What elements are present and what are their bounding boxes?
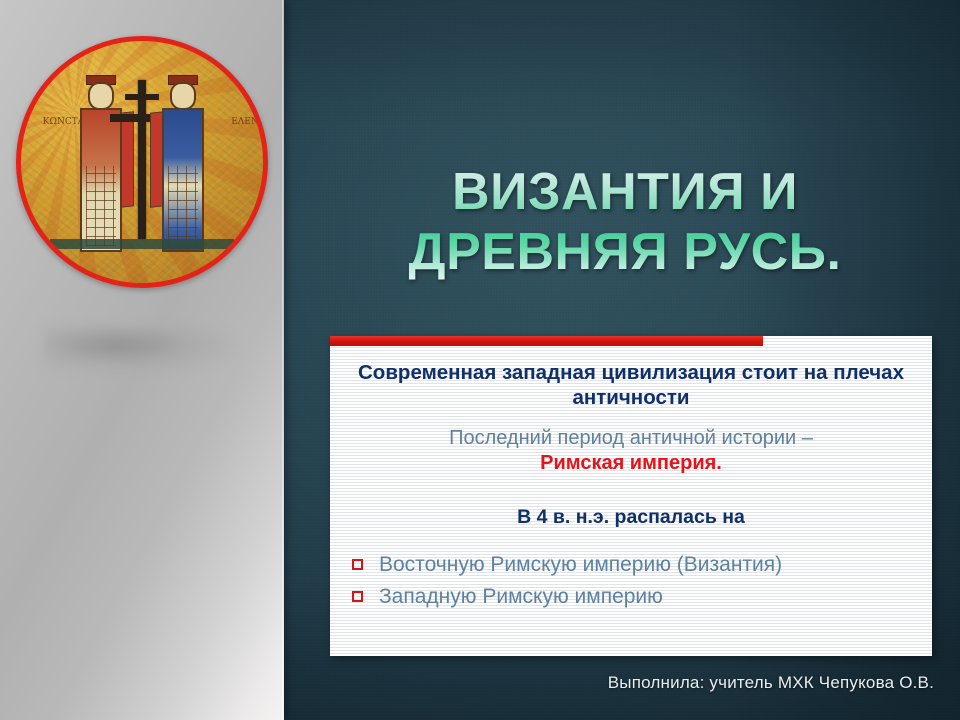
content-bullet-list: Восточную Римскую империю (Византия) Зап… — [344, 549, 918, 613]
title-line-2: ДРЕВНЯЯ РУСЬ. — [300, 222, 950, 282]
image-reflection-smudge — [44, 326, 236, 372]
figure-head — [170, 82, 196, 110]
greek-inscription-left: ΚΩΝCΤΑΝΤΙΝΟC — [43, 118, 53, 127]
mosaic-image-container: ΚΩΝCΤΑΝΤΙΝΟC ΕΛΕΝΗ — [16, 36, 268, 288]
presentation-slide: ΚΩΝCΤΑΝΤΙΝΟC ΕΛΕΝΗ — [0, 0, 960, 720]
greek-inscription-right: ΕΛΕΝΗ — [231, 118, 241, 127]
red-accent-bar — [330, 336, 763, 346]
list-item: Западную Римскую империю — [352, 581, 918, 613]
title-line-1: ВИЗАНТИЯ И — [300, 162, 950, 222]
figure-robe — [80, 108, 122, 251]
robe-pattern — [86, 166, 116, 246]
byzantine-mosaic-icon: ΚΩΝCΤΑΝΤΙΝΟC ΕΛΕΝΗ — [16, 36, 268, 288]
left-panel-edge-highlight — [282, 0, 284, 720]
cross-icon-vertical — [138, 80, 146, 240]
list-item-label: Западную Римскую империю — [379, 581, 663, 613]
figure-empress — [159, 82, 207, 251]
figure-emperor — [77, 82, 125, 251]
cross-icon-upper-bar — [125, 94, 159, 100]
content-subtitle-prefix: Последний период античной истории – — [449, 427, 813, 449]
content-subtitle: Последний период античной истории – Римс… — [344, 426, 918, 476]
figure-head — [88, 82, 114, 110]
author-attribution: Выполнила: учитель МХК Чепукова О.В. — [608, 673, 934, 693]
mosaic-ground-strip — [50, 239, 234, 249]
list-item-label: Восточную Римскую империю (Византия) — [379, 549, 782, 581]
square-bullet-icon — [352, 591, 363, 602]
content-heading: Современная западная цивилизация стоит н… — [344, 360, 918, 410]
slide-title: ВИЗАНТИЯ И ДРЕВНЯЯ РУСЬ. — [300, 162, 950, 283]
figure-cloak — [120, 111, 134, 207]
figure-robe — [162, 108, 204, 251]
square-bullet-icon — [352, 559, 363, 570]
list-item: Восточную Римскую империю (Византия) — [352, 549, 918, 581]
robe-pattern — [168, 166, 198, 246]
content-subtitle-accent: Римская империя. — [540, 452, 722, 474]
content-text-box: Современная западная цивилизация стоит н… — [330, 336, 932, 656]
content-heading-2: В 4 в. н.э. распалась на — [344, 506, 918, 529]
